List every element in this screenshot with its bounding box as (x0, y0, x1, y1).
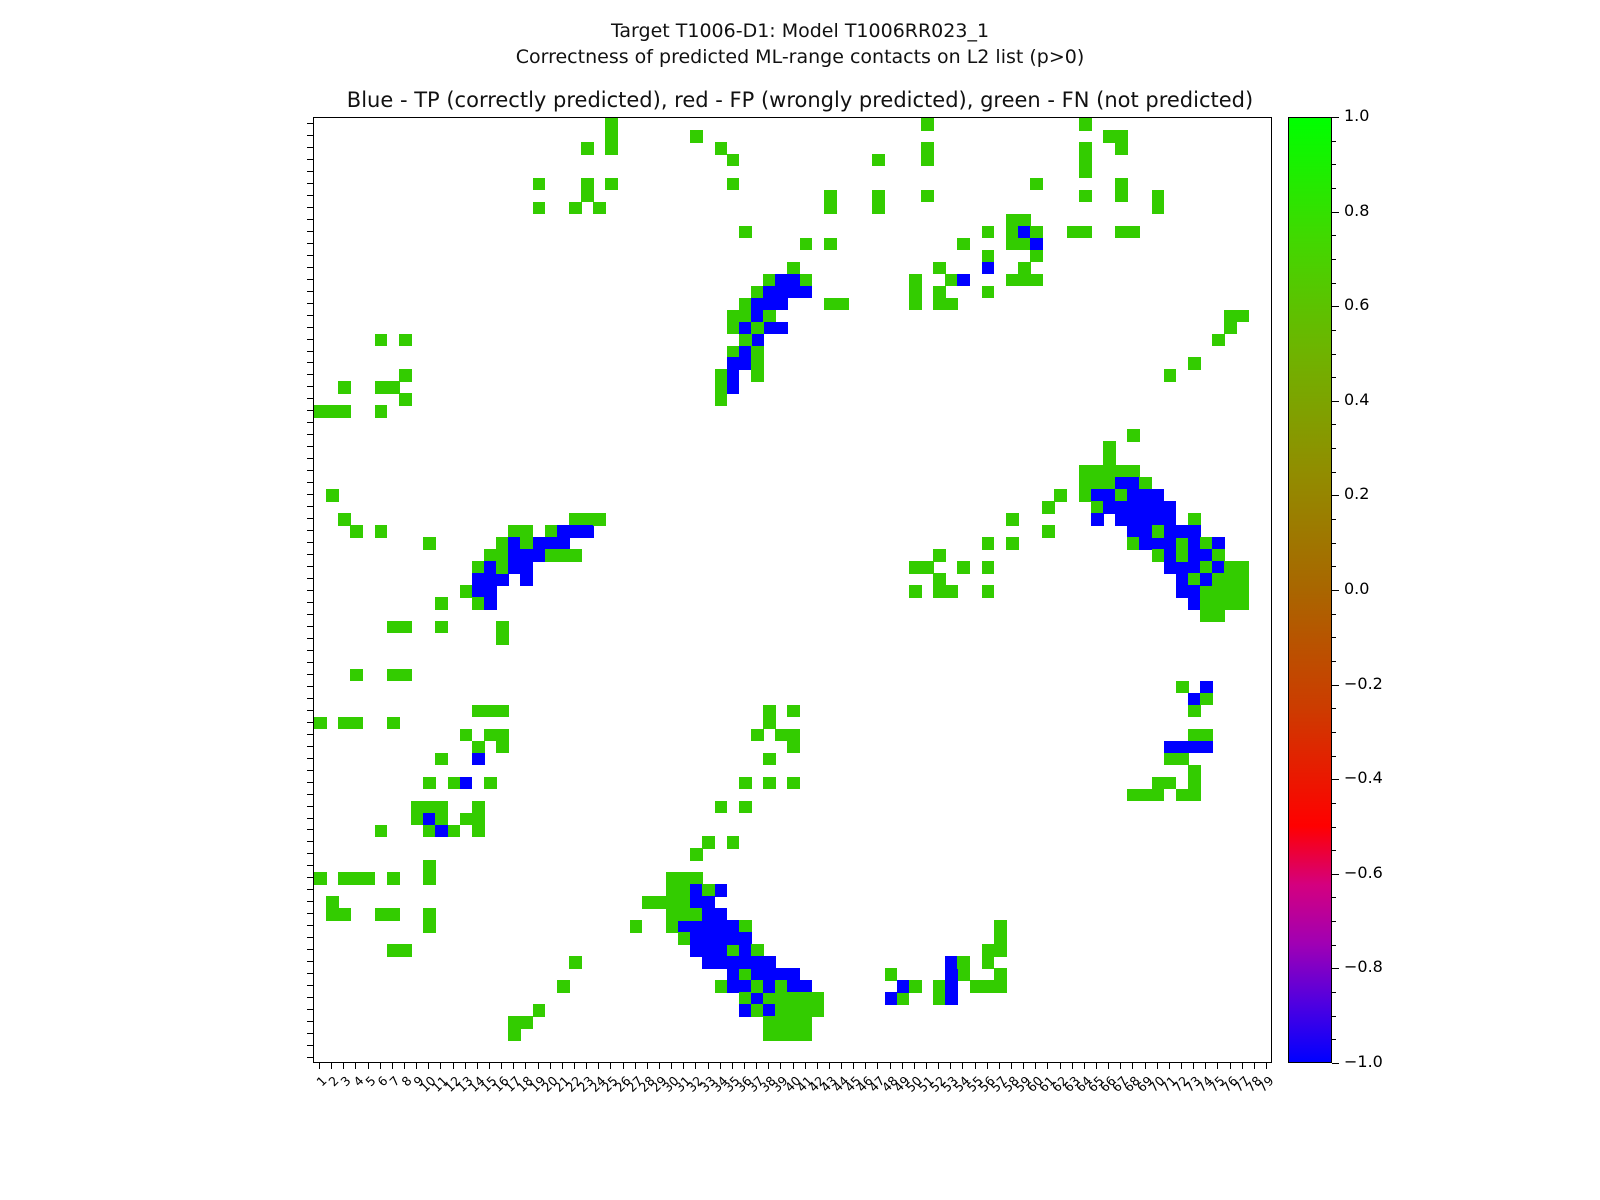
contact-cell (678, 884, 691, 897)
contact-cell (423, 801, 436, 814)
contact-cell (1127, 465, 1140, 478)
contact-cell (1200, 741, 1213, 754)
contact-cell (1224, 310, 1237, 323)
contact-cell (885, 968, 898, 981)
contact-cell (715, 884, 728, 897)
contact-cell (496, 729, 509, 742)
contact-cell (1091, 501, 1104, 514)
contact-cell (763, 717, 776, 730)
colorbar-minor-tick (1332, 827, 1336, 828)
contact-cell (970, 980, 983, 993)
contact-cell (350, 525, 363, 538)
contact-cell (1200, 729, 1213, 742)
contact-cell (787, 980, 800, 993)
contact-cell (569, 513, 582, 526)
contact-cell (945, 274, 958, 287)
contact-cell (399, 621, 412, 634)
colorbar-minor-tick (1332, 212, 1336, 213)
contact-cell (472, 813, 485, 826)
contact-cell (1200, 597, 1213, 610)
contact-cell (1079, 477, 1092, 490)
x-tick-mark (720, 1063, 721, 1069)
contact-cell (739, 932, 752, 945)
contact-cell (1103, 441, 1116, 454)
contact-cell (727, 322, 740, 335)
title-line-1: Target T1006-D1: Model T1006RR023_1 (0, 18, 1600, 44)
contact-cell (787, 286, 800, 299)
contact-cell (957, 968, 970, 981)
contact-cell (1176, 573, 1189, 586)
contact-cell (1176, 789, 1189, 802)
contact-cell (1176, 537, 1189, 550)
contact-cell (885, 992, 898, 1005)
contact-cell (1091, 477, 1104, 490)
colorbar-minor-tick (1332, 1063, 1336, 1064)
contact-cell (933, 573, 946, 586)
contact-cell (472, 561, 485, 574)
contact-cell (1152, 190, 1165, 203)
contact-cell (1164, 561, 1177, 574)
contact-cell (1030, 274, 1043, 287)
contact-cell (739, 992, 752, 1005)
contact-cell (812, 1004, 825, 1017)
x-tick-mark (1108, 1063, 1109, 1069)
contact-cell (423, 537, 436, 550)
contact-cell (1018, 214, 1031, 227)
contact-cell (375, 381, 388, 394)
contact-cell (775, 968, 788, 981)
contact-cell (1006, 537, 1019, 550)
contact-cell (836, 298, 849, 311)
contact-cell (1212, 597, 1225, 610)
contact-cell (581, 178, 594, 191)
colorbar-minor-tick (1332, 519, 1336, 520)
contact-cell (1237, 310, 1250, 323)
contact-cell (1164, 777, 1177, 790)
contact-cell (763, 1028, 776, 1041)
contact-cell (496, 537, 509, 550)
contact-cell (945, 956, 958, 969)
contact-cell (933, 286, 946, 299)
x-tick-mark (368, 1063, 369, 1069)
contact-cell (508, 549, 521, 562)
contact-cell (484, 549, 497, 562)
contact-cell (994, 944, 1007, 957)
contact-cell (1127, 477, 1140, 490)
x-axis: 1234567891011121314151617181920212223242… (313, 1063, 1272, 1193)
contact-cell (1152, 789, 1165, 802)
contact-cell (702, 932, 715, 945)
contact-cell (982, 980, 995, 993)
x-tick-mark (1181, 1063, 1182, 1069)
colorbar-minor-tick (1332, 543, 1336, 544)
contact-cell (484, 561, 497, 574)
contact-cell (1224, 573, 1237, 586)
contact-cell (1152, 202, 1165, 215)
contact-cell (872, 190, 885, 203)
contact-cell (751, 980, 764, 993)
contact-cell (739, 346, 752, 359)
contact-cell (1139, 513, 1152, 526)
contact-cell (1127, 429, 1140, 442)
x-tick-mark (635, 1063, 636, 1069)
contact-cell (1188, 789, 1201, 802)
contact-cell (775, 729, 788, 742)
contact-cell (957, 561, 970, 574)
x-tick-mark (659, 1063, 660, 1069)
x-tick-mark (1120, 1063, 1121, 1069)
contact-cell (763, 310, 776, 323)
contact-cell (605, 178, 618, 191)
contact-cell (1115, 489, 1128, 502)
contact-cell (520, 549, 533, 562)
colorbar-tick-label: −0.6 (1344, 866, 1383, 880)
contact-cell (1224, 561, 1237, 574)
contact-cell (787, 992, 800, 1005)
contact-cell (1164, 513, 1177, 526)
contact-cell (763, 956, 776, 969)
contact-cell (1030, 238, 1043, 251)
colorbar-minor-tick (1332, 354, 1336, 355)
contact-cell (690, 130, 703, 143)
contact-cell (678, 872, 691, 885)
contact-cell (375, 908, 388, 921)
colorbar-tick-label: 0.0 (1344, 582, 1369, 596)
contact-cell (423, 920, 436, 933)
colorbar-minor-tick (1332, 377, 1336, 378)
contact-cell (630, 920, 643, 933)
contact-cell (1139, 789, 1152, 802)
contact-cell (678, 932, 691, 945)
contact-cell (739, 944, 752, 957)
colorbar-tick-label: −1.0 (1344, 1055, 1383, 1069)
colorbar-minor-tick (1332, 897, 1336, 898)
contact-cell (423, 825, 436, 838)
x-tick-mark (756, 1063, 757, 1069)
contact-cell (1212, 537, 1225, 550)
x-tick-mark (683, 1063, 684, 1069)
contact-cell (1200, 609, 1213, 622)
contact-cell (690, 848, 703, 861)
contact-cell (363, 872, 376, 885)
contact-cell (448, 777, 461, 790)
contact-cell (739, 801, 752, 814)
colorbar-minor-tick (1332, 756, 1336, 757)
contact-cell (1176, 561, 1189, 574)
contact-cell (812, 992, 825, 1005)
contact-cell (763, 1016, 776, 1029)
x-tick-mark (1217, 1063, 1218, 1069)
x-tick-mark (1047, 1063, 1048, 1069)
contact-cell (739, 310, 752, 323)
contact-cell (1188, 693, 1201, 706)
contact-cell (739, 357, 752, 370)
contact-cell (702, 944, 715, 957)
contact-cell (739, 956, 752, 969)
x-tick-mark (343, 1063, 344, 1069)
contact-cell (897, 980, 910, 993)
colorbar-minor-tick (1332, 448, 1336, 449)
contact-cell (1079, 166, 1092, 179)
x-tick-mark (331, 1063, 332, 1069)
contact-cell (787, 274, 800, 287)
contact-cell (787, 1016, 800, 1029)
contact-cell (751, 1004, 764, 1017)
contact-cell (435, 825, 448, 838)
colorbar-tick-label: 0.6 (1344, 298, 1369, 312)
contact-cell (387, 381, 400, 394)
contact-cell (1139, 489, 1152, 502)
colorbar-minor-tick (1332, 661, 1336, 662)
contact-cell (387, 669, 400, 682)
contact-cell (982, 537, 995, 550)
colorbar-minor-tick (1332, 921, 1336, 922)
contact-cell (545, 549, 558, 562)
contact-cell (1164, 525, 1177, 538)
contact-cell (569, 202, 582, 215)
contact-cell (1188, 549, 1201, 562)
contact-cell (1127, 789, 1140, 802)
contact-cell (1200, 537, 1213, 550)
colorbar-minor-tick (1332, 779, 1336, 780)
contact-cell (1212, 561, 1225, 574)
colorbar-minor-tick (1332, 685, 1336, 686)
contact-cell (1115, 142, 1128, 155)
contact-cell (702, 836, 715, 849)
contact-map-plot[interactable] (313, 117, 1272, 1063)
contact-cell (1212, 585, 1225, 598)
contact-cell (326, 489, 339, 502)
contact-cell (763, 980, 776, 993)
contact-cell (1224, 585, 1237, 598)
contact-cell (472, 585, 485, 598)
contact-cell (593, 513, 606, 526)
x-tick-mark (319, 1063, 320, 1069)
contact-cell (448, 825, 461, 838)
contact-cell (800, 980, 813, 993)
contact-cell (727, 357, 740, 370)
contact-cell (423, 860, 436, 873)
colorbar-tick-label: 0.4 (1344, 393, 1369, 407)
colorbar-minor-tick (1332, 968, 1336, 969)
contact-cell (715, 393, 728, 406)
contact-cell (751, 322, 764, 335)
contact-cell (326, 405, 339, 418)
colorbar-minor-tick (1332, 992, 1336, 993)
figure-title: Target T1006-D1: Model T1006RR023_1 Corr… (0, 18, 1600, 70)
contact-cell (787, 705, 800, 718)
x-tick-mark (404, 1063, 405, 1069)
contact-cell (569, 549, 582, 562)
contact-cell (1103, 501, 1116, 514)
contact-cell (1006, 513, 1019, 526)
x-tick-mark (623, 1063, 624, 1069)
contact-cell (605, 142, 618, 155)
contact-cell (1018, 274, 1031, 287)
contact-cell (375, 334, 388, 347)
colorbar-minor-tick (1332, 330, 1336, 331)
colorbar-minor-tick (1332, 472, 1336, 473)
x-tick-mark (829, 1063, 830, 1069)
x-tick-mark (562, 1063, 563, 1069)
x-tick-mark (1084, 1063, 1085, 1069)
contact-cell (751, 357, 764, 370)
contact-cell (751, 944, 764, 957)
contact-cell (775, 980, 788, 993)
x-tick-mark (805, 1063, 806, 1069)
contact-cell (751, 956, 764, 969)
contact-cell (654, 896, 667, 909)
contact-cell (520, 561, 533, 574)
x-tick-mark (902, 1063, 903, 1069)
contact-cell (435, 813, 448, 826)
contact-cell (1115, 190, 1128, 203)
x-tick-mark (1145, 1063, 1146, 1069)
colorbar-tick-label: −0.8 (1344, 960, 1383, 974)
contact-cell (727, 944, 740, 957)
contact-cell (994, 968, 1007, 981)
colorbar-minor-tick (1332, 188, 1336, 189)
contact-cell (1030, 178, 1043, 191)
colorbar-minor-tick (1332, 495, 1336, 496)
contact-cell (460, 813, 473, 826)
contact-cell (775, 1016, 788, 1029)
contact-cell (472, 825, 485, 838)
contact-cell (763, 705, 776, 718)
contact-cell (423, 872, 436, 885)
contact-cell (1212, 549, 1225, 562)
contact-cell (800, 1016, 813, 1029)
contact-cell (1127, 537, 1140, 550)
x-tick-mark (877, 1063, 878, 1069)
contact-cell (957, 274, 970, 287)
contact-cell (1188, 537, 1201, 550)
contact-cell (1164, 501, 1177, 514)
contact-cell (1127, 501, 1140, 514)
x-tick-mark (550, 1063, 551, 1069)
contact-cell (775, 298, 788, 311)
contact-cell (727, 369, 740, 382)
contact-cell (1200, 549, 1213, 562)
contact-cell (787, 968, 800, 981)
contact-cell (1200, 585, 1213, 598)
contact-cell (484, 777, 497, 790)
contact-cell (872, 202, 885, 215)
contact-cell (1188, 597, 1201, 610)
contact-cell (387, 717, 400, 730)
contact-cell (690, 944, 703, 957)
contact-cell (1091, 489, 1104, 502)
contact-cell (314, 872, 327, 885)
contact-cell (1103, 453, 1116, 466)
contact-cell (666, 896, 679, 909)
contact-cell (581, 525, 594, 538)
contact-cell (557, 549, 570, 562)
contact-cell (557, 525, 570, 538)
contact-cell (715, 369, 728, 382)
colorbar-minor-tick (1332, 1016, 1336, 1017)
contact-cell (727, 310, 740, 323)
contact-cell (520, 573, 533, 586)
contact-cell (375, 405, 388, 418)
contact-cell (824, 238, 837, 251)
contact-cell (508, 561, 521, 574)
contact-cell (690, 920, 703, 933)
contact-cell (1042, 501, 1055, 514)
x-tick-mark (793, 1063, 794, 1069)
contact-cell (739, 226, 752, 239)
contact-cell (496, 573, 509, 586)
contact-cell (508, 1016, 521, 1029)
contact-cell (508, 537, 521, 550)
contact-cell (435, 801, 448, 814)
contact-cell (751, 310, 764, 323)
contact-cell (751, 369, 764, 382)
contact-cell (399, 944, 412, 957)
contact-cell (338, 717, 351, 730)
x-tick-mark (538, 1063, 539, 1069)
contact-cell (715, 944, 728, 957)
contact-cell (484, 573, 497, 586)
contact-cell (1212, 609, 1225, 622)
contact-cell (411, 813, 424, 826)
contact-cell (909, 298, 922, 311)
contact-cell (666, 872, 679, 885)
contact-cell (1176, 753, 1189, 766)
x-tick-mark (598, 1063, 599, 1069)
contact-cell (933, 262, 946, 275)
contact-cell (1006, 214, 1019, 227)
colorbar-minor-tick (1332, 259, 1336, 260)
contact-cell (727, 932, 740, 945)
contact-cell (557, 537, 570, 550)
contact-cell (763, 322, 776, 335)
contact-cell (581, 142, 594, 155)
contact-cell (678, 896, 691, 909)
colorbar-ticks: 1.00.80.60.40.20.0−0.2−0.4−0.6−0.8−1.0 (1332, 117, 1452, 1063)
contact-cell (1115, 226, 1128, 239)
contact-cell (484, 585, 497, 598)
contact-cell (1212, 334, 1225, 347)
contact-cell (1200, 681, 1213, 694)
colorbar-minor-tick (1332, 850, 1336, 851)
contact-cell (1103, 130, 1116, 143)
contact-cell (642, 896, 655, 909)
contact-cell (921, 190, 934, 203)
colorbar-minor-tick (1332, 945, 1336, 946)
contact-cell (1188, 765, 1201, 778)
title-line-2: Correctness of predicted ML-range contac… (0, 44, 1600, 70)
x-tick-mark (962, 1063, 963, 1069)
contact-cell (399, 669, 412, 682)
contact-cell (326, 896, 339, 909)
contact-cell (533, 537, 546, 550)
x-tick-mark (1266, 1063, 1267, 1069)
contact-cell (520, 1016, 533, 1029)
contact-cell (581, 190, 594, 203)
contact-cell (1091, 465, 1104, 478)
x-tick-mark (744, 1063, 745, 1069)
x-tick-mark (999, 1063, 1000, 1069)
contact-cell (909, 274, 922, 287)
contact-cell (702, 920, 715, 933)
contact-cell (484, 597, 497, 610)
contact-cell (1224, 597, 1237, 610)
contact-cell (1079, 226, 1092, 239)
contact-cell (751, 334, 764, 347)
colorbar-minor-tick (1332, 803, 1336, 804)
contact-cell (933, 980, 946, 993)
